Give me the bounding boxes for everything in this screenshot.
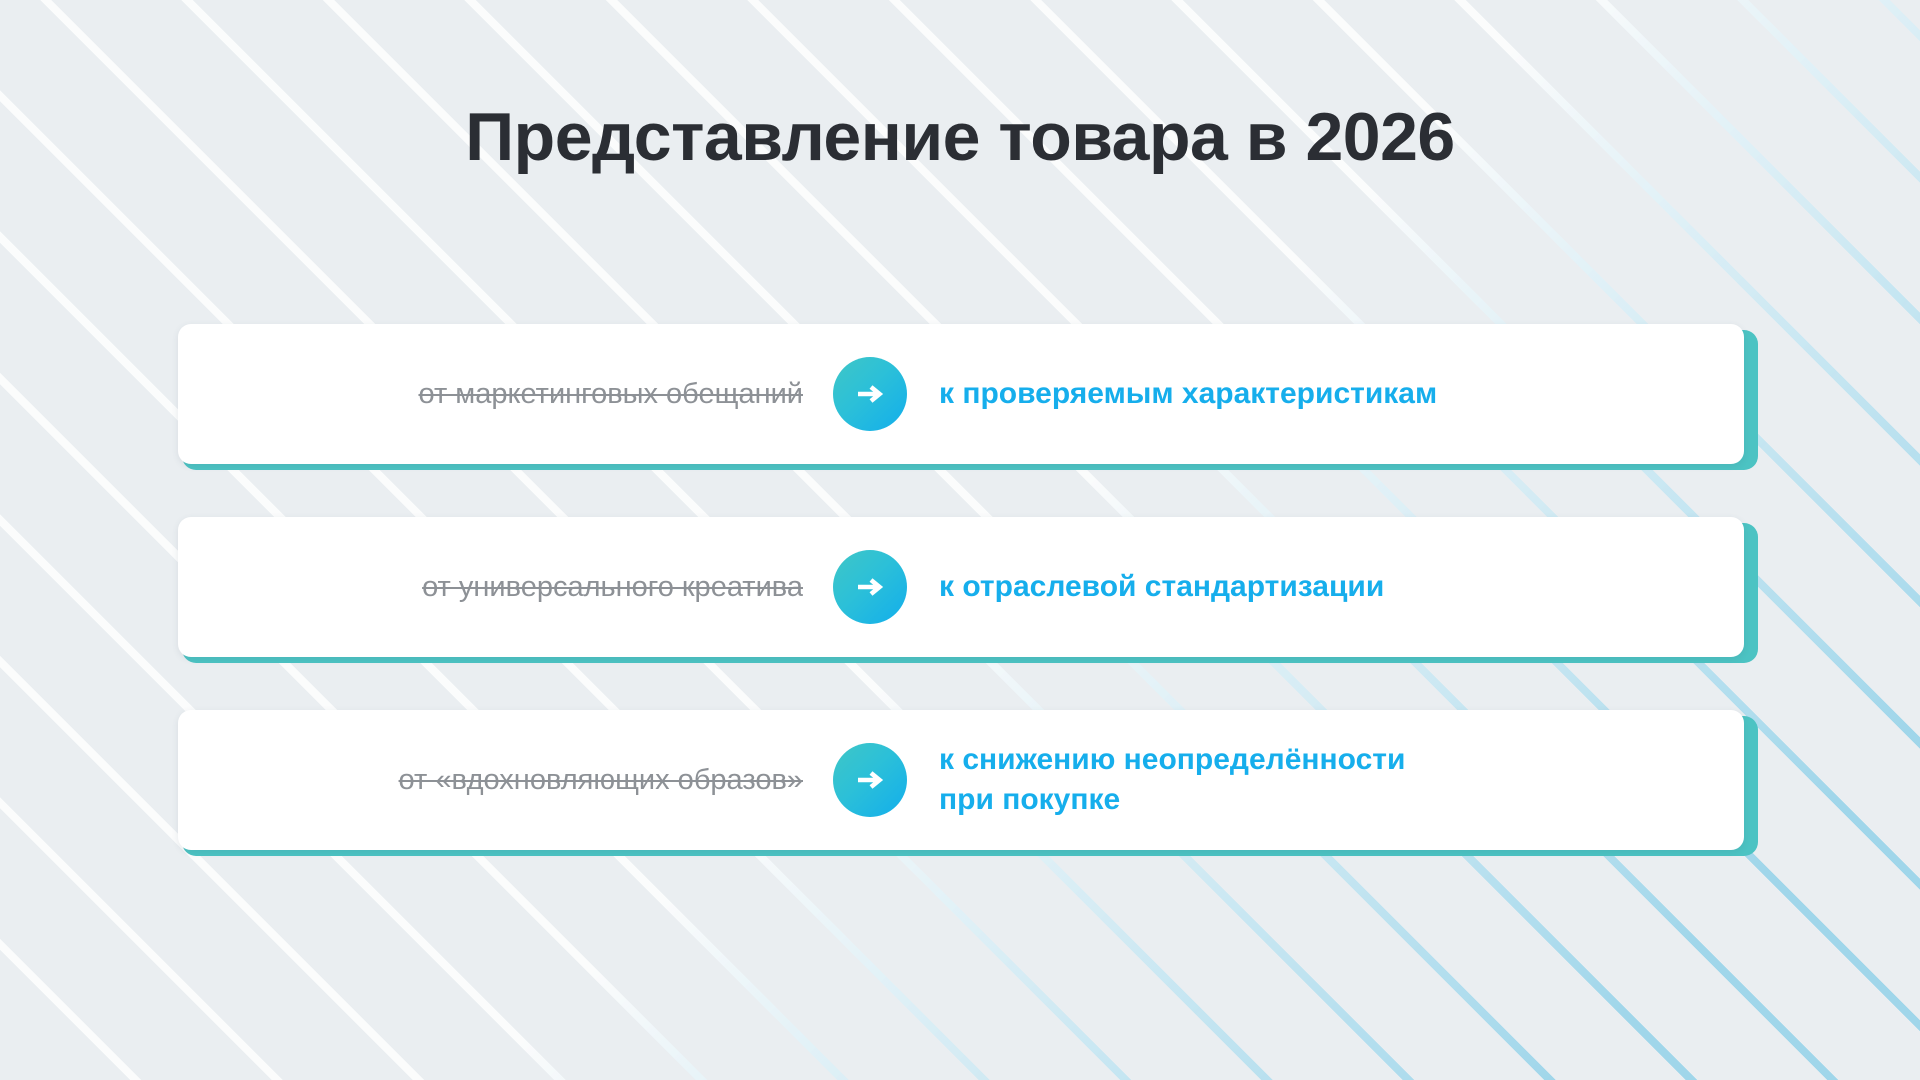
list-item: от универсального креатива к отраслевой …: [178, 517, 1758, 657]
transition-card-1[interactable]: от маркетинговых обещаний к проверяемым …: [178, 324, 1744, 464]
new-state-label: к снижению неопределённости при покупке: [907, 740, 1718, 819]
transition-card-2[interactable]: от универсального креатива к отраслевой …: [178, 517, 1744, 657]
page-title: Представление товара в 2026: [0, 98, 1920, 176]
old-state-label: от «вдохновляющих образов»: [178, 764, 833, 797]
arrow-right-icon: [833, 743, 907, 817]
old-state-label: от маркетинговых обещаний: [178, 378, 833, 411]
list-item: от маркетинговых обещаний к проверяемым …: [178, 324, 1758, 464]
transition-rows-list: от маркетинговых обещаний к проверяемым …: [178, 324, 1758, 903]
arrow-right-icon: [833, 550, 907, 624]
old-state-label: от универсального креатива: [178, 571, 833, 604]
slide-canvas: Представление товара в 2026 от маркетинг…: [0, 0, 1920, 1080]
list-item: от «вдохновляющих образов» к снижению не…: [178, 710, 1758, 850]
new-state-label: к проверяемым характеристикам: [907, 374, 1718, 414]
new-state-label: к отраслевой стандартизации: [907, 567, 1718, 607]
arrow-right-icon: [833, 357, 907, 431]
transition-card-3[interactable]: от «вдохновляющих образов» к снижению не…: [178, 710, 1744, 850]
